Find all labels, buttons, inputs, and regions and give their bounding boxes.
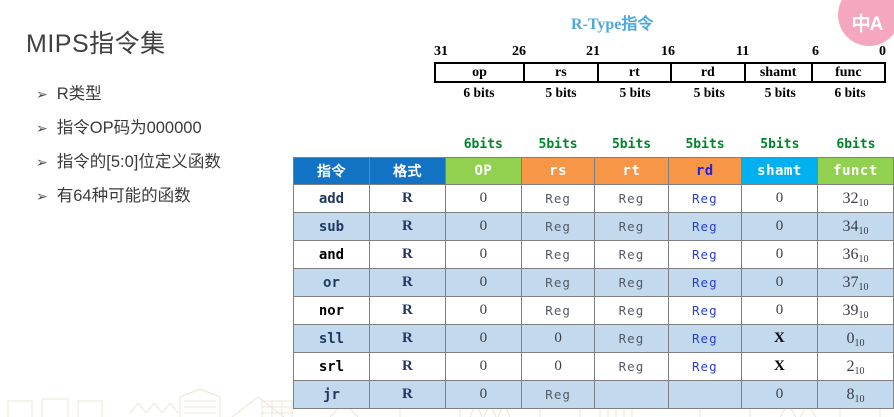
cell-format: R bbox=[369, 269, 445, 297]
arrow-bullet-icon: ➢ bbox=[36, 87, 48, 101]
bitwidth-rd: 5bits bbox=[668, 137, 741, 157]
bitwidth-shamt: 5bits bbox=[742, 137, 818, 157]
bitwidth-blank-2 bbox=[369, 137, 445, 157]
list-item: ➢ 指令OP码为000000 bbox=[36, 114, 306, 138]
cell-funct: 810 bbox=[817, 381, 893, 409]
bit-label-0: 0 bbox=[879, 44, 886, 60]
cell-op: 0 bbox=[445, 185, 521, 213]
list-item: ➢ R类型 bbox=[36, 80, 306, 104]
field-box-op: op bbox=[436, 64, 525, 81]
cell-rs: 0 bbox=[521, 325, 594, 353]
cell-shamt: 0 bbox=[741, 381, 817, 409]
cell-funct: 3210 bbox=[817, 185, 893, 213]
arrow-bullet-icon: ➢ bbox=[36, 155, 48, 169]
list-item-label: 指令OP码为000000 bbox=[57, 114, 202, 138]
cell-shamt: 0 bbox=[741, 297, 817, 325]
cell-funct: 010 bbox=[817, 325, 893, 353]
field-width-shamt: 5 bits bbox=[746, 85, 814, 101]
cell-funct: 210 bbox=[817, 353, 893, 381]
field-box-rs: rs bbox=[525, 64, 598, 81]
field-width-rs: 5 bits bbox=[524, 85, 598, 101]
cell-rs: Reg bbox=[521, 297, 594, 325]
cell-op: 0 bbox=[445, 353, 521, 381]
cell-op: 0 bbox=[445, 269, 521, 297]
table-header-row: 指令 格式 OP rs rt rd shamt funct bbox=[294, 158, 894, 185]
list-item-label: 有64种可能的函数 bbox=[57, 182, 191, 206]
cell-instruction: and bbox=[294, 241, 370, 269]
field-width-rd: 5 bits bbox=[672, 85, 746, 101]
arrow-bullet-icon: ➢ bbox=[36, 121, 48, 135]
cell-rd bbox=[668, 381, 741, 409]
table-row: sll R 0 0 Reg Reg X 010 bbox=[294, 325, 894, 353]
field-box-rt: rt bbox=[599, 64, 672, 81]
cell-rd: Reg bbox=[668, 353, 741, 381]
cell-rt: Reg bbox=[595, 241, 668, 269]
cell-op: 0 bbox=[445, 213, 521, 241]
field-box-func: func bbox=[813, 64, 884, 81]
cell-instruction: srl bbox=[294, 353, 370, 381]
cell-instruction: sub bbox=[294, 213, 370, 241]
cell-rd: Reg bbox=[668, 185, 741, 213]
cell-op: 0 bbox=[445, 297, 521, 325]
cell-rs: Reg bbox=[521, 241, 594, 269]
cell-rt: Reg bbox=[595, 297, 668, 325]
bit-position-labels: 31 26 21 16 11 6 0 bbox=[434, 44, 886, 62]
translate-icon: 中A bbox=[852, 9, 883, 36]
bit-label-16: 16 bbox=[661, 44, 675, 60]
cell-instruction: or bbox=[294, 269, 370, 297]
field-box-shamt: shamt bbox=[746, 64, 813, 81]
bit-label-26: 26 bbox=[512, 44, 526, 60]
field-boxes: op rs rt rd shamt func bbox=[434, 62, 886, 83]
bit-label-31: 31 bbox=[434, 44, 448, 60]
list-item-label: 指令的[5:0]位定义函数 bbox=[57, 148, 221, 172]
cell-rs: Reg bbox=[521, 213, 594, 241]
table-row: jr R 0 Reg 0 810 bbox=[294, 381, 894, 409]
cell-format: R bbox=[369, 213, 445, 241]
bit-label-21: 21 bbox=[586, 44, 600, 60]
bitwidth-rt: 5bits bbox=[595, 137, 668, 157]
bitwidth-funct: 6bits bbox=[818, 137, 894, 157]
cell-shamt: 0 bbox=[741, 269, 817, 297]
cell-rd: Reg bbox=[668, 297, 741, 325]
cell-rs: Reg bbox=[521, 381, 594, 409]
cell-rd: Reg bbox=[668, 241, 741, 269]
cell-op: 0 bbox=[445, 381, 521, 409]
column-header-instruction: 指令 bbox=[294, 158, 370, 185]
list-item: ➢ 有64种可能的函数 bbox=[36, 182, 306, 206]
field-width-labels: 6 bits 5 bits 5 bits 5 bits 5 bits 6 bit… bbox=[434, 85, 886, 101]
table-row: or R 0 Reg Reg Reg 0 3710 bbox=[294, 269, 894, 297]
cell-format: R bbox=[369, 241, 445, 269]
column-header-funct: funct bbox=[817, 158, 893, 185]
ime-language-badge[interactable]: 中A bbox=[838, 0, 894, 46]
cell-funct: 3610 bbox=[817, 241, 893, 269]
field-width-rt: 5 bits bbox=[598, 85, 672, 101]
cell-funct: 3910 bbox=[817, 297, 893, 325]
cell-rd: Reg bbox=[668, 269, 741, 297]
table-row: add R 0 Reg Reg Reg 0 3210 bbox=[294, 185, 894, 213]
cell-instruction: nor bbox=[294, 297, 370, 325]
cell-format: R bbox=[369, 325, 445, 353]
cell-rt: Reg bbox=[595, 269, 668, 297]
cell-shamt: X bbox=[741, 325, 817, 353]
cell-rd: Reg bbox=[668, 213, 741, 241]
column-header-format: 格式 bbox=[369, 158, 445, 185]
field-width-op: 6 bits bbox=[434, 85, 524, 101]
table-bitwidth-row: 6bits 5bits 5bits 5bits 5bits 6bits bbox=[293, 137, 894, 157]
rtype-instruction-format: 31 26 21 16 11 6 0 op rs rt rd shamt fun… bbox=[434, 44, 886, 101]
bullet-list: ➢ R类型 ➢ 指令OP码为000000 ➢ 指令的[5:0]位定义函数 ➢ 有… bbox=[36, 80, 306, 216]
arrow-bullet-icon: ➢ bbox=[36, 189, 48, 203]
cell-shamt: X bbox=[741, 353, 817, 381]
bitwidth-blank-1 bbox=[293, 137, 369, 157]
cell-rd: Reg bbox=[668, 325, 741, 353]
cell-instruction: add bbox=[294, 185, 370, 213]
field-box-rd: rd bbox=[672, 64, 745, 81]
cell-format: R bbox=[369, 353, 445, 381]
field-width-func: 6 bits bbox=[814, 85, 886, 101]
column-header-rt: rt bbox=[595, 158, 668, 185]
cell-rs: Reg bbox=[521, 269, 594, 297]
cell-instruction: sll bbox=[294, 325, 370, 353]
column-header-rd: rd bbox=[668, 158, 741, 185]
list-item-label: R类型 bbox=[57, 80, 102, 104]
cell-shamt: 0 bbox=[741, 185, 817, 213]
cell-rt: Reg bbox=[595, 353, 668, 381]
cell-rt: Reg bbox=[595, 185, 668, 213]
table-row: srl R 0 0 Reg Reg X 210 bbox=[294, 353, 894, 381]
cell-instruction: jr bbox=[294, 381, 370, 409]
list-item: ➢ 指令的[5:0]位定义函数 bbox=[36, 148, 306, 172]
table-row: sub R 0 Reg Reg Reg 0 3410 bbox=[294, 213, 894, 241]
bitwidth-rs: 5bits bbox=[521, 137, 594, 157]
page-title: MIPS指令集 bbox=[26, 24, 166, 60]
cell-rt bbox=[595, 381, 668, 409]
cell-rt: Reg bbox=[595, 325, 668, 353]
column-header-shamt: shamt bbox=[741, 158, 817, 185]
mips-instruction-table: 指令 格式 OP rs rt rd shamt funct add R 0 Re… bbox=[293, 157, 894, 409]
cell-shamt: 0 bbox=[741, 241, 817, 269]
cell-rs: Reg bbox=[521, 185, 594, 213]
cell-funct: 3410 bbox=[817, 213, 893, 241]
cell-shamt: 0 bbox=[741, 213, 817, 241]
cell-format: R bbox=[369, 381, 445, 409]
cell-rs: 0 bbox=[521, 353, 594, 381]
cell-format: R bbox=[369, 185, 445, 213]
cell-funct: 3710 bbox=[817, 269, 893, 297]
cell-format: R bbox=[369, 297, 445, 325]
column-header-op: OP bbox=[445, 158, 521, 185]
column-header-rs: rs bbox=[521, 158, 594, 185]
bit-label-6: 6 bbox=[812, 44, 819, 60]
table-row: and R 0 Reg Reg Reg 0 3610 bbox=[294, 241, 894, 269]
bitwidth-op: 6bits bbox=[445, 137, 521, 157]
cell-rt: Reg bbox=[595, 213, 668, 241]
table-row: nor R 0 Reg Reg Reg 0 3910 bbox=[294, 297, 894, 325]
cell-op: 0 bbox=[445, 241, 521, 269]
cell-op: 0 bbox=[445, 325, 521, 353]
bit-label-11: 11 bbox=[736, 44, 749, 60]
rtype-diagram-title: R-Type指令 bbox=[571, 10, 653, 34]
